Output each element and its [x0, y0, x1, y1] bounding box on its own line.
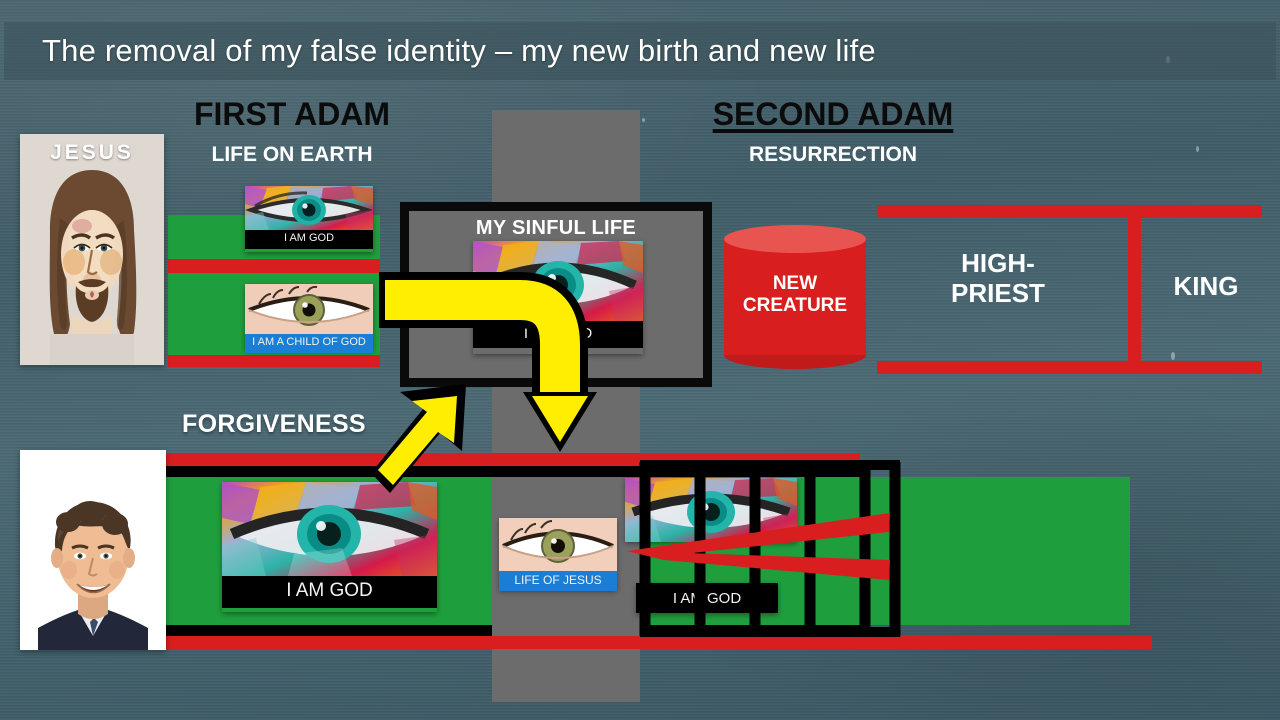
red-stripe-bottom-top — [166, 453, 860, 466]
natural-eye-image — [499, 518, 617, 571]
high-priest-label: HIGH- PRIEST — [903, 249, 1093, 309]
man-photo — [20, 450, 166, 650]
slide-title-bar: The removal of my false identity – my ne… — [4, 22, 1276, 80]
header-first-adam: FIRST ADAM — [173, 96, 411, 133]
black-corner-left-top — [166, 466, 180, 477]
jesus-portrait: JESUS — [20, 134, 164, 365]
eye-card-life-of-jesus: LIFE OF JESUS — [499, 518, 617, 590]
forgiveness-label: FORGIVENESS — [182, 410, 366, 439]
header-resurrection: RESURRECTION — [688, 143, 978, 167]
colorful-eye-image — [473, 241, 643, 321]
eye-card-caged — [625, 478, 797, 542]
colorful-eye-image — [222, 482, 437, 576]
eye-caption-life-of-jesus: LIFE OF JESUS — [499, 571, 617, 591]
eye-card-i-am-god-bottom-left: I AM GOD — [222, 482, 437, 612]
header-life-on-earth: LIFE ON EARTH — [173, 143, 411, 167]
colorful-eye-image — [245, 186, 373, 230]
black-stripe-bottom-top — [166, 466, 860, 477]
h-frame-top-left — [877, 205, 1262, 218]
cylinder-top — [724, 225, 866, 253]
eye-caption-child-of-god: I AM A CHILD OF GOD — [245, 334, 373, 353]
king-label: KING — [1146, 272, 1266, 302]
eye-card-child-of-god: I AM A CHILD OF GOD — [245, 284, 373, 350]
h-frame-divider — [1128, 205, 1141, 374]
my-sinful-life-box: MY SINFUL LIFE — [400, 202, 712, 387]
colorful-eye-image — [625, 478, 797, 542]
red-stripe-top-a — [168, 259, 380, 273]
jesus-label: JESUS — [20, 141, 164, 165]
jesus-watercolor — [20, 134, 164, 365]
background-speck — [1171, 352, 1175, 360]
my-sinful-life-label: MY SINFUL LIFE — [409, 217, 703, 240]
slide-canvas: The removal of my false identity – my ne… — [0, 0, 1280, 720]
background-speck — [1196, 146, 1199, 152]
eye-card-sinful-life: I AM GOD — [473, 241, 643, 354]
man-portrait — [20, 450, 166, 650]
eye-caption-i-am-god-bottom-left: I AM GOD — [222, 576, 437, 608]
my-sinful-life-inner: MY SINFUL LIFE — [409, 211, 703, 378]
background-speck — [642, 118, 645, 122]
eye-caption-i-am-god-top: I AM GOD — [245, 230, 373, 249]
header-second-adam: SECOND ADAM — [688, 96, 978, 133]
new-creature-label: NEW CREATURE — [724, 273, 866, 318]
eye-caption-caged-i-am-god: I AM GOD — [673, 590, 741, 607]
eye-caption-sinful-life: I AM GOD — [473, 321, 643, 348]
page-title: The removal of my false identity – my ne… — [4, 33, 876, 69]
new-creature-cylinder: NEW CREATURE — [724, 225, 866, 369]
eye-card-i-am-god-top: I AM GOD — [245, 186, 373, 252]
eye-caption-caged-i-am-god-wrap: I AM GOD — [636, 583, 778, 613]
red-stripe-bottom-extend — [492, 636, 1152, 649]
natural-eye-image — [245, 284, 373, 334]
red-stripe-top-b — [168, 355, 380, 367]
h-frame-bottom-left — [877, 361, 1262, 374]
